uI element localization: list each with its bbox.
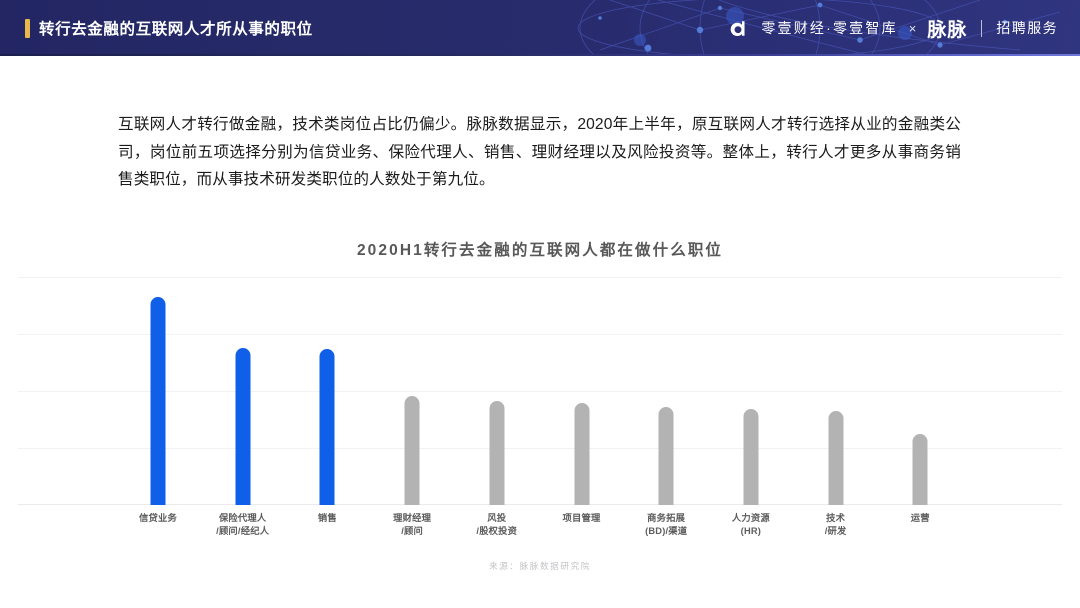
x-axis-label: 人力资源 (HR) — [732, 512, 770, 537]
chart-bar — [489, 401, 504, 505]
x-axis-label: 项目管理 — [563, 512, 601, 525]
header-title-group: 转行去金融的互联网人才所从事的职位 — [25, 0, 313, 56]
brand-secondary-label: 脉脉 — [927, 15, 967, 42]
brand-service-label: 招聘服务 — [996, 18, 1058, 38]
chart-bar — [405, 396, 420, 505]
x-axis-label: 运营 — [911, 512, 930, 525]
brand-separator-icon: × — [909, 21, 917, 36]
chart-bar — [235, 348, 250, 505]
chart-bar — [574, 403, 589, 505]
body-paragraph: 互联网人才转行做金融，技术类岗位占比仍偏少。脉脉数据显示，2020年上半年，原互… — [118, 111, 961, 194]
gold-accent-bar-icon — [25, 19, 30, 38]
chart-plot-area — [18, 277, 1062, 505]
x-axis-label: 风投 /股权投资 — [476, 512, 517, 537]
chart-bar — [743, 409, 758, 505]
page-title: 转行去金融的互联网人才所从事的职位 — [39, 17, 313, 39]
chart-bar — [151, 297, 166, 505]
x-axis-label: 商务拓展 (BD)/渠道 — [645, 512, 687, 537]
chart-bar — [320, 349, 335, 505]
a-circle-logo-icon — [729, 17, 752, 40]
x-axis-label: 销售 — [318, 512, 337, 525]
brand-lockup: 零壹财经·零壹智库 × 脉脉 招聘服务 — [729, 0, 1058, 56]
x-axis-label: 技术 /研发 — [825, 512, 847, 537]
slide-page: 转行去金融的互联网人才所从事的职位 零壹财经·零壹智库 × 脉脉 招聘服务 互联… — [0, 0, 1080, 608]
bar-series — [18, 277, 1062, 505]
x-axis-label: 理财经理 /顾问 — [393, 512, 431, 537]
x-axis-label: 保险代理人 /顾问/经纪人 — [216, 512, 269, 537]
chart-bar — [659, 407, 674, 505]
chart-source-note: 来源：脉脉数据研究院 — [0, 560, 1080, 572]
x-axis-labels: 信贷业务保险代理人 /顾问/经纪人销售理财经理 /顾问风投 /股权投资项目管理商… — [18, 512, 1062, 556]
brand-divider — [981, 20, 982, 37]
page-header: 转行去金融的互联网人才所从事的职位 零壹财经·零壹智库 × 脉脉 招聘服务 — [0, 0, 1080, 56]
brand-primary-label: 零壹财经·零壹智库 — [761, 18, 897, 38]
chart-bar — [828, 411, 843, 505]
x-axis-label: 信贷业务 — [139, 512, 177, 525]
chart-title: 2020H1转行去金融的互联网人都在做什么职位 — [0, 238, 1080, 260]
chart-bar — [913, 434, 928, 505]
